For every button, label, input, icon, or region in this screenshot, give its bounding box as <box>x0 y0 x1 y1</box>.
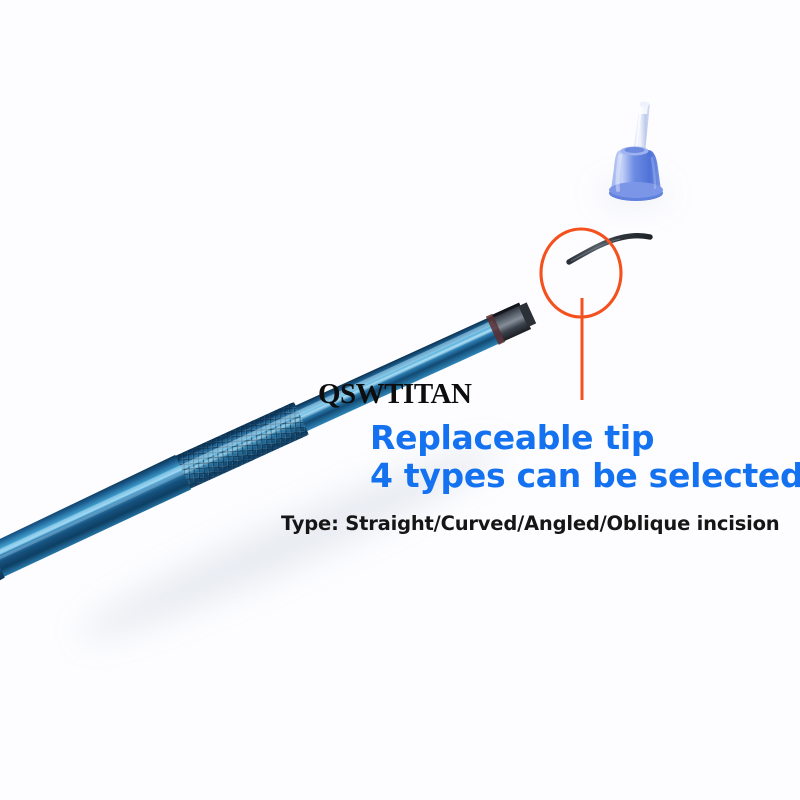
brand-wordmark: QSWTITAN <box>318 378 471 411</box>
type-caption: Type: Straight/Curved/Angled/Oblique inc… <box>281 512 779 535</box>
collet-ferrule <box>486 299 538 345</box>
front-shaft <box>294 315 506 432</box>
end-taper <box>0 538 8 622</box>
headline-line-2: 4 types can be selected <box>370 456 800 495</box>
curved-cannula <box>569 236 650 262</box>
knurled-grip <box>174 402 309 489</box>
replacement-tip-cap <box>609 101 663 201</box>
tip-highlight-circle <box>541 229 621 317</box>
headline-line-1: Replaceable tip <box>370 418 654 457</box>
tip-cap-shadow <box>598 186 668 202</box>
product-image-canvas: QSWTITAN Replaceable tip 4 types can be … <box>0 0 800 800</box>
mid-shaft <box>0 455 192 578</box>
